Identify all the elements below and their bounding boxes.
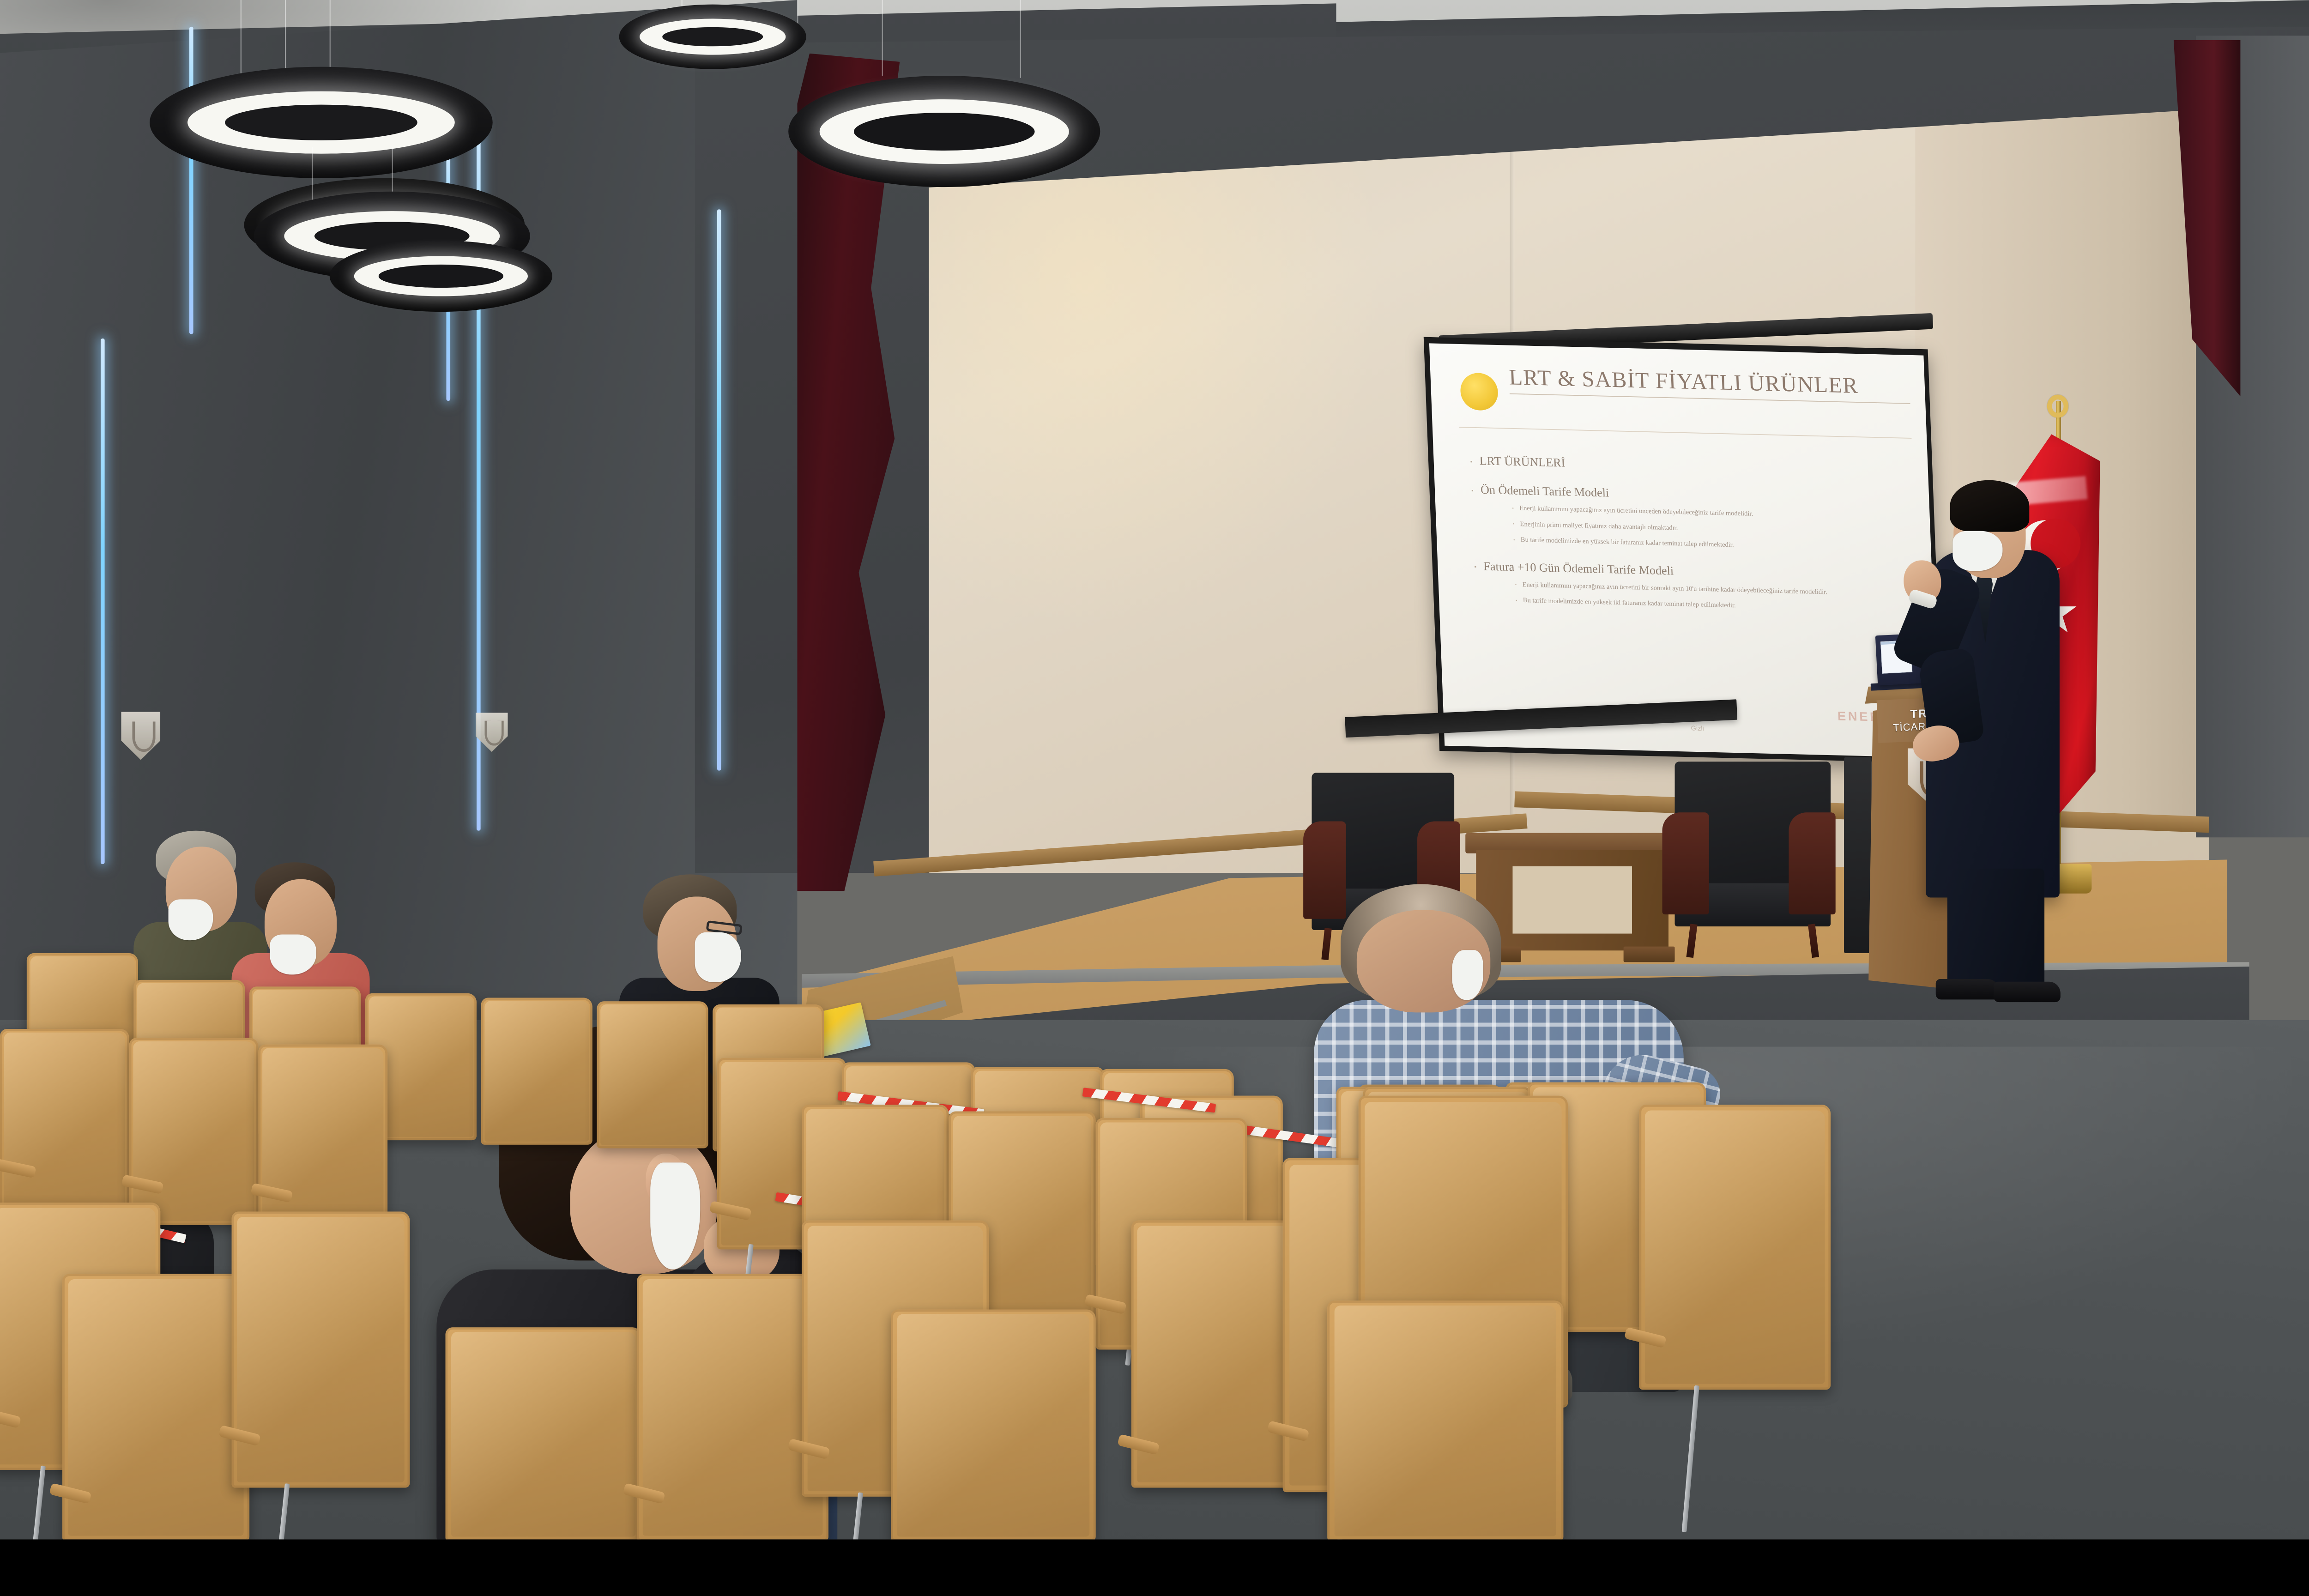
armchair-leg: [1808, 924, 1819, 958]
chair-backrest: [597, 1001, 708, 1148]
attendee-face-mask: [695, 932, 741, 982]
chair[interactable]: [232, 1211, 410, 1487]
presenter-trousers: [1947, 869, 2044, 993]
chair[interactable]: [0, 1029, 129, 1216]
chair-backrest: [1639, 1105, 1831, 1390]
stage-speaker-box: [1844, 757, 1872, 953]
chair-backrest: [232, 1211, 410, 1487]
slide-bullet: Bu tarife modelimizde en yüksek iki fatu…: [1516, 595, 1920, 615]
slide-bullet-list: LRT ÜRÜNLERİ Ön Ödemeli Tarife Modeli En…: [1460, 438, 1925, 731]
stage-wall-highlight: [891, 133, 1381, 623]
projection-screen: LRT & SABİT FİYATLI ÜRÜNLER LRT ÜRÜNLERİ…: [1424, 337, 1944, 763]
slide-bullet: LRT ÜRÜNLERİ: [1470, 453, 1915, 478]
attendee-mask-under-chin: [270, 935, 316, 975]
chair-backrest: [62, 1274, 249, 1539]
slide-title: LRT & SABİT FİYATLI ÜRÜNLER: [1508, 364, 1910, 399]
conference-hall-photo: LRT & SABİT FİYATLI ÜRÜNLER LRT ÜRÜNLERİ…: [0, 0, 2309, 1539]
presenter-shoe-right: [1994, 982, 2061, 1002]
chair[interactable]: [1639, 1105, 1831, 1390]
chair[interactable]: [1327, 1300, 1563, 1539]
chair[interactable]: [597, 1001, 708, 1148]
chair[interactable]: [637, 1274, 828, 1539]
chair-backrest: [258, 1045, 387, 1232]
chair-backrest: [637, 1274, 828, 1539]
stage-armchair-right: [1675, 762, 1831, 957]
attendee-mask-under-chin: [169, 899, 213, 940]
chair[interactable]: [891, 1310, 1096, 1540]
chair[interactable]: [62, 1274, 249, 1539]
sun-icon: [1460, 373, 1499, 411]
presenter-hair: [1950, 480, 2030, 532]
slide-rule-bottom: [1459, 427, 1912, 439]
armchair-wing-right: [1789, 813, 1835, 915]
attendee-mask-on-ear: [1452, 950, 1483, 1000]
led-strip-5: [717, 209, 721, 770]
presenter: [1898, 459, 2085, 1006]
chair-backrest: [1327, 1300, 1563, 1539]
screen-surface: LRT & SABİT FİYATLI ÜRÜNLER LRT ÜRÜNLERİ…: [1429, 343, 1939, 757]
chair[interactable]: [481, 997, 592, 1144]
chair[interactable]: [446, 1327, 641, 1539]
flag-finial-icon: [2047, 395, 2068, 418]
chair[interactable]: [129, 1038, 259, 1225]
chair-backrest: [0, 1029, 129, 1216]
chair[interactable]: [258, 1045, 387, 1232]
presenter-face-mask: [1952, 531, 2002, 571]
chair-backrest: [446, 1327, 641, 1539]
chair-backrest: [129, 1038, 259, 1225]
presenter-shoe-left: [1936, 979, 1999, 999]
chair-backrest: [891, 1310, 1096, 1540]
led-strip-4: [101, 339, 105, 864]
slide-page-number: Gizli: [1691, 725, 1704, 732]
slide-bullet: Bu tarife modelimizde en yüksek bir fatu…: [1513, 535, 1918, 555]
slide-content: LRT & SABİT FİYATLI ÜRÜNLER LRT ÜRÜNLERİ…: [1429, 343, 1939, 757]
chair-backrest: [481, 997, 592, 1144]
